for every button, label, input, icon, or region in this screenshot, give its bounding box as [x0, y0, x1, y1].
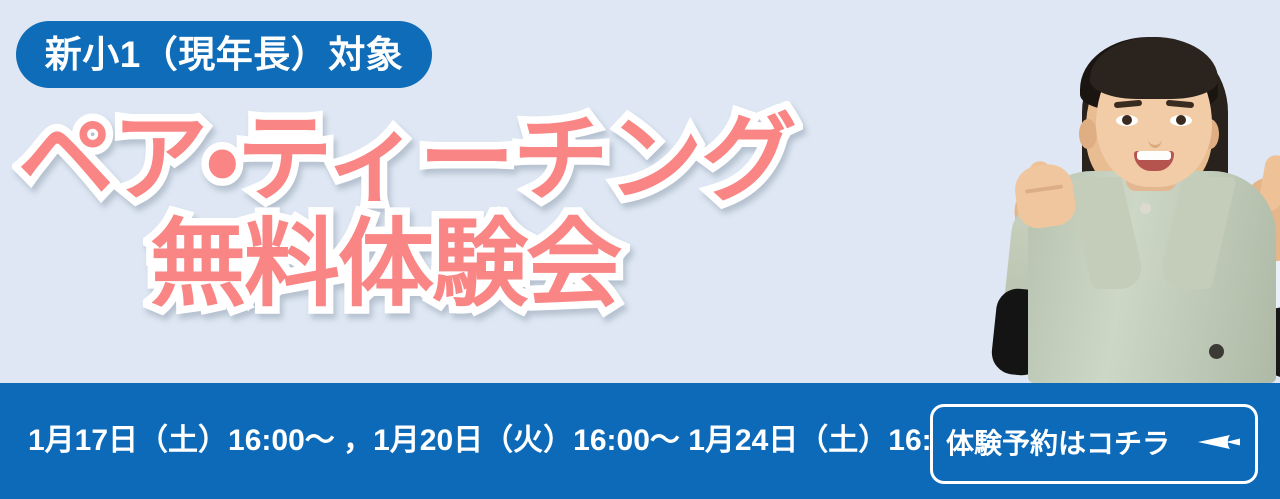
reservation-cta-button[interactable]: 体験予約はコチラ: [930, 404, 1258, 484]
female-nose: [1148, 129, 1162, 148]
target-audience-badge: 新小1（現年長）対象: [16, 21, 432, 88]
female-lapel-right: [1157, 177, 1237, 289]
female-instructor-figure: [1004, 23, 1280, 383]
female-lapel-left: [1067, 177, 1147, 289]
promo-banner: 新小1（現年長）対象 ペア・ティーチング 無料体験会 1月17日（土）16:00…: [0, 0, 1280, 499]
instructors-photo: [760, 0, 1280, 383]
female-blouse-button-2: [1140, 203, 1151, 214]
target-audience-label: 新小1（現年長）対象: [45, 36, 404, 73]
female-eyebrow-right: [1166, 100, 1194, 108]
female-eye-left: [1116, 115, 1138, 126]
female-bangs: [1090, 37, 1218, 99]
headline-line-1: ペア・ティーチング: [0, 104, 840, 215]
female-teeth: [1137, 151, 1171, 160]
female-eye-right: [1170, 115, 1192, 126]
female-eyebrow-left: [1114, 100, 1142, 108]
female-fist: [1012, 161, 1078, 230]
schedule-text: 1月17日（土）16:00〜 ，1月20日（火）16:00〜 1月24日（土）1…: [28, 426, 995, 456]
reservation-cta-label: 体験予約はコチラ: [946, 430, 1170, 458]
female-mouth: [1134, 151, 1174, 171]
banner-stage: 新小1（現年長）対象 ペア・ティーチング 無料体験会: [0, 0, 1280, 383]
headline-line-2: 無料体験会: [0, 209, 840, 320]
female-head: [1096, 45, 1212, 187]
arrow-right-icon: [1196, 429, 1242, 460]
headline: ペア・ティーチング 無料体験会: [0, 104, 840, 321]
schedule-bar: 1月17日（土）16:00〜 ，1月20日（火）16:00〜 1月24日（土）1…: [0, 383, 1280, 499]
female-jacket-button: [1209, 344, 1224, 359]
